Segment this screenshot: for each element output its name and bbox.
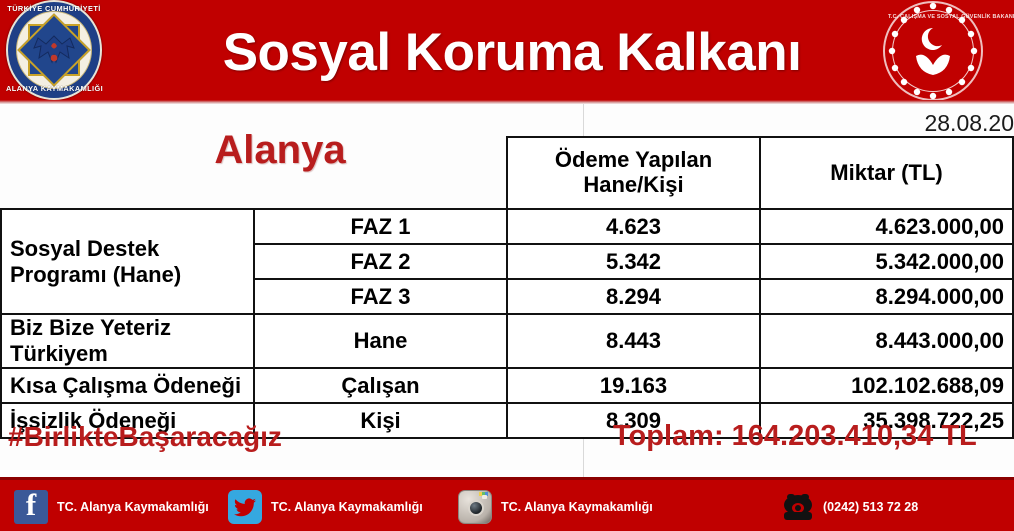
row-label-sosyal-destek: Sosyal Destek Programı (Hane): [1, 209, 254, 314]
ministry-of-labour-emblem: T.C. ÇALIŞMA VE SOSYAL GÜVENLİK BAKANLIĞ…: [882, 0, 984, 104]
row-count: 8.294: [507, 279, 760, 314]
facebook-icon[interactable]: [14, 490, 48, 524]
phone-label: (0242) 513 72 28: [823, 500, 918, 514]
instagram-label: TC. Alanya Kaymakamlığı: [501, 500, 653, 514]
table-row: Biz Bize Yeteriz Türkiyem Hane 8.443 8.4…: [1, 314, 1013, 368]
phone-icon[interactable]: [780, 490, 814, 524]
footer-instagram[interactable]: TC. Alanya Kaymakamlığı: [458, 480, 653, 531]
column-header-count-line2: Hane/Kişi: [516, 173, 751, 198]
row-unit: FAZ 3: [254, 279, 507, 314]
row-count: 19.163: [507, 368, 760, 403]
table-row: Sosyal Destek Programı (Hane) FAZ 1 4.62…: [1, 209, 1013, 244]
poster-root: TÜRKİYE CUMHURİYETİ ALANYA KAYMAKAMLIĞI …: [0, 0, 1014, 531]
column-header-count-line1: Ödeme Yapılan: [516, 148, 751, 173]
row-amount: 5.342.000,00: [760, 244, 1013, 279]
page-title: Sosyal Koruma Kalkanı: [0, 0, 1014, 104]
header-bottom-seam: [0, 100, 1014, 104]
row-count: 8.443: [507, 314, 760, 368]
header-empty-label-cell: [1, 137, 254, 209]
row-count: 4.623: [507, 209, 760, 244]
emblem-arc-bottom-text: ALANYA KAYMAKAMLIĞI: [6, 84, 102, 93]
report-date: 28.08.20: [764, 110, 1014, 137]
footer-bar: TC. Alanya Kaymakamlığı TC. Alanya Kayma…: [0, 477, 1014, 531]
ministry-ring-text: T.C. ÇALIŞMA VE SOSYAL GÜVENLİK BAKANLIĞ…: [888, 14, 978, 20]
footer-facebook[interactable]: TC. Alanya Kaymakamlığı: [14, 480, 209, 531]
instagram-icon[interactable]: [458, 490, 492, 524]
instagram-flash: [482, 495, 487, 499]
table-header-row: Ödeme Yapılan Hane/Kişi Miktar (TL): [1, 137, 1013, 209]
twitter-icon[interactable]: [228, 490, 262, 524]
facebook-label: TC. Alanya Kaymakamlığı: [57, 500, 209, 514]
header-banner: TÜRKİYE CUMHURİYETİ ALANYA KAYMAKAMLIĞI …: [0, 0, 1014, 104]
row-label: Biz Bize Yeteriz Türkiyem: [1, 314, 254, 368]
twitter-label: TC. Alanya Kaymakamlığı: [271, 500, 423, 514]
footer-phone[interactable]: (0242) 513 72 28: [780, 480, 918, 531]
row-amount: 4.623.000,00: [760, 209, 1013, 244]
payments-table: Ödeme Yapılan Hane/Kişi Miktar (TL) Sosy…: [0, 136, 1014, 439]
emblem-crest-icon: [30, 28, 78, 74]
row-label: Kısa Çalışma Ödeneği: [1, 368, 254, 403]
instagram-lens: [468, 500, 484, 516]
row-unit: FAZ 1: [254, 209, 507, 244]
row-amount: 102.102.688,09: [760, 368, 1013, 403]
column-header-amount: Miktar (TL): [760, 137, 1013, 209]
row-unit: FAZ 2: [254, 244, 507, 279]
footer-twitter[interactable]: TC. Alanya Kaymakamlığı: [228, 480, 423, 531]
row-unit: Çalışan: [254, 368, 507, 403]
crescent-and-hands-icon: [912, 26, 954, 76]
row-unit: Hane: [254, 314, 507, 368]
column-header-count: Ödeme Yapılan Hane/Kişi: [507, 137, 760, 209]
row-count: 5.342: [507, 244, 760, 279]
header-empty-unit-cell: [254, 137, 507, 209]
total-amount: Toplam: 164.203.410,34 TL: [613, 420, 977, 453]
row-unit: Kişi: [254, 403, 507, 438]
row-amount: 8.443.000,00: [760, 314, 1013, 368]
row-amount: 8.294.000,00: [760, 279, 1013, 314]
emblem-arc-top-text: TÜRKİYE CUMHURİYETİ: [6, 4, 102, 13]
table-row: Kısa Çalışma Ödeneği Çalışan 19.163 102.…: [1, 368, 1013, 403]
campaign-hashtag: #BirlikteBaşaracağız: [8, 421, 282, 453]
